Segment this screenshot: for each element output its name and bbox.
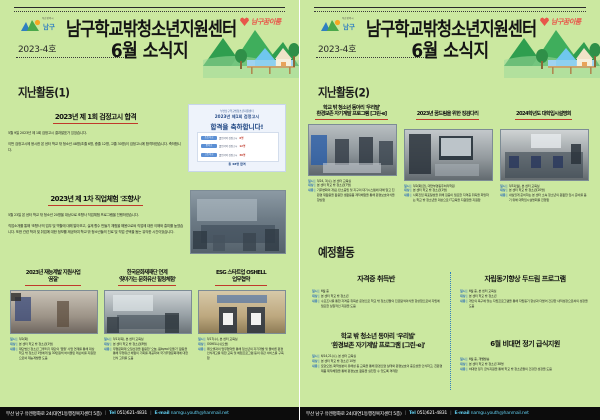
card-stepping-stone: 2023년 꿈드림을 위한 징검다리 일시 |5/2(화)금), 대연부경동주처… [404,100,491,203]
meta-key: 내용 | [500,193,507,202]
photo-right-card-1 [308,124,397,176]
card-title-wrap: 2023년 재능계발 지원사업 '꿈잘' [10,266,96,286]
poster-row-label: 졸업학력 검정고시 [219,153,237,157]
poster-row-count: 12명 [239,144,245,148]
card-title-line-2: '꿈잘' [48,277,59,283]
plan-meta-3: 일시 |6/14,21(수), 본 센터 교육실 대상 |본 센터 학교 밖 청… [312,354,444,373]
page-right: 부산광역시 남구 남구학교밖청소년지원센터 남구꿈이룸 6월 소식지 2023-… [300,0,600,420]
footer-sep: | [105,411,106,416]
meta-key: 내용 | [198,347,205,361]
photo-right-card-2 [404,129,493,181]
card-title-wrap: 학교 밖 청소년 동아리 '우리발' 환경보존 자기계발 프로그램 [그린-e] [308,100,395,120]
photo-job-experience [190,190,286,254]
namgu-logo: 부산광역시 남구 [320,16,366,34]
meta-value: 토양오염, 화학성분의 유해성 등 교육을 통해 환경오염 실태와 환경보호의 … [321,364,444,373]
meta-key: 대상 | [460,294,467,299]
block-title-wrap: 2023년 제 1차 직업체험 '조향사' [8,186,183,206]
meta-key: 일시 | [104,337,111,342]
poster-row-grade: 초등학교 [201,136,217,140]
card-meta-3: 일시 |5/17(수), 본 센터 교육실 대상 |OSHELL(쉬오블) 내용… [198,337,284,361]
meta-key: 내용 | [460,299,467,308]
card-meta-1: 일시 |5/2(화) 대상 |본 센터 학교 밖 청소년(1명) 내용 |재단법… [10,337,96,361]
poster-row-label: 졸업학력 검정고시 [219,136,237,140]
landscape-illustration [203,16,299,78]
card-title-line-2: 환경보존 자기계발 프로그램 [그린-e] [316,111,386,117]
meta-key: 일시 | [460,289,467,294]
poster-line-2: 합격을 축하합니다! [189,121,285,131]
meta-key: 내용 | [312,364,319,373]
meta-value: 사회진입 목표달성을 위해 집중이 필요한 자격증 취득을 희망하는 학교 밖 … [413,193,491,202]
card-title-wrap: ESG 스타트업 OSHELL 업무협약 [198,266,284,286]
plan-title-line-1: 학교 밖 청소년 동아리 '우리발' [341,332,415,340]
meta-key: 대상 | [198,342,205,347]
meta-row: 내용 |내실있게 준비하는 본 센터 소속 청소년의 원활한 입시 준비를 돕기… [500,193,587,202]
meta-value: 본 센터 학교 밖 청소년(1명) [19,342,53,347]
block-exam-pass: 2023년 제 1회 검정고시 합격 5월 9일 2023년 제 1회 검정고시… [8,104,183,153]
card-meta-right-1: 일시 |5/24, 3(수), 본 센터 교육실 대상 |본 센터 학교 밖 청… [308,179,395,203]
poster-row-grade: 고등학교 [201,153,217,157]
block-paragraph-1: 5월 23일 본 센터 학교 밖 청소년 20명을 대상으로 조향사 직업체험 … [8,213,183,218]
meta-row: 일시 |6월 중, 본 센터 교육실 [460,289,590,294]
meta-key: 내용 | [308,188,315,202]
meta-value: 무형문화재 오칠선장을 활용한 '오늘, 봄byeol 민들기' 활동을 통해 … [113,347,190,361]
footer-tel-label: Tel [409,411,416,416]
meta-key: 일시 | [10,337,17,342]
poster-footer: 총 48명 합격 [189,162,285,166]
meta-value: 내실있게 준비하는 본 센터 소속 청소년의 원활한 입시 준비를 돕기 위해 … [509,193,587,202]
card-title-line-1: 학교 밖 청소년 동아리 '우리발' [323,105,380,111]
poster-row: 중학교 졸업학력 검정고시 12명 [201,144,245,148]
landscape-illustration [504,16,600,78]
meta-value: 본 센터 학교 밖 청소년 38명 [469,362,504,367]
card-title: 2024학년도 대학입시설명회 [515,111,572,120]
page-left: 부산광역시 남구 남구학교밖청소년지원센터 남구꿈이룸 6월 소식지 2023-… [0,0,300,420]
card-title-line-1: ESG 스타트업 OSHELL [216,270,266,276]
logo-namgu-text: 남구 [343,21,355,31]
mountain-logo-icon [320,19,342,32]
plan-certificate-class: 자격증 취득반 일시 |6월 중 대상 |본 센터 학교 밖 청소년 내용 |수… [312,274,440,308]
footer-email[interactable]: namgu.youth@hanmail.net [471,411,529,416]
card-green-e: 학교 밖 청소년 동아리 '우리발' 환경보존 자기계발 프로그램 [그린-e]… [308,100,395,203]
section-heading-past-2: 지난활동(2) [318,84,369,101]
plan-title-wrap: 자격증 취득반 [312,274,440,284]
meta-row: 대상 |본 센터 학교 밖 청소년 38명 [460,362,590,367]
meta-key: 내용 | [404,193,411,202]
card-title: 학교 밖 청소년 동아리 '우리발' 환경보존 자기계발 프로그램 [그린-e] [315,105,387,120]
meta-row: 일시 |5/2(화) [10,337,96,342]
card-esg-mou: ESG 스타트업 OSHELL 업무협약 일시 |5/17(수), 본 센터 교… [198,266,284,361]
block-job-experience: 2023년 제 1차 직업체험 '조향사' 5월 23일 본 센터 학교 밖 청… [8,186,183,235]
meta-value: 6월 중 [321,289,329,294]
card-meta-2: 일시 |5/11(목), 본 센터 교육실 대상 |본 센터 학교 밖 청소년(… [104,337,190,361]
card-title: 2023년 재능계발 지원사업 '꿈잘' [25,270,81,286]
meta-key: 일시 | [198,337,205,342]
block-paragraph-2: 직업소개를 통해 '조향사'의 업무 및 역할에 대해 알아보고, 실제 향수 … [8,224,183,235]
meta-value: 5/11(목), 본 센터 교육실 [113,337,144,342]
plan-title-wrap: 자립동기향상 두드림 프로그램 [460,274,590,284]
card-title-line-1: 한국문화재재단 연계 [127,270,168,276]
card-title-line-2: 업무협약 [232,277,249,283]
card-title: ESG 스타트업 OSHELL 업무협약 [215,270,267,286]
meta-row: 대상 |본 센터 학교 밖 청소년 [312,294,440,299]
card-talent-support: 2023년 재능계발 지원사업 '꿈잘' 일시 |5/2(화) 대상 |본 센터… [10,266,96,361]
meta-key: 대상 | [460,362,467,367]
meta-value: 개인의 욕구에 맞는 자립프로그램을 통해 자립동기 향상과 더불어 건강한 내… [469,299,590,308]
photo-card-2 [104,290,192,334]
plan-dodream: 자립동기향상 두드림 프로그램 일시 |6월 중, 본 센터 교육실 대상 |본… [460,274,590,308]
footer-sep: | [405,411,406,416]
footer-tel-label: Tel [109,411,116,416]
footer-email-label: E-mail [455,411,470,416]
exam-result-poster: 부산남구학교밖청소년지원센터 2023년 제1회 검정고시 합격을 축하합니다!… [188,104,286,172]
poster-table: 초등학교 졸업학력 검정고시 6명 중학교 졸업학력 검정고시 12명 고등학교… [197,132,279,162]
plan-meta-1: 일시 |6월 중 대상 |본 센터 학교 밖 청소년 내용 |수요조사를 통한 … [312,289,440,308]
logo-mini-text: 부산광역시 [42,16,54,20]
meta-key: 일시 | [312,289,319,294]
meta-value: 수요조사를 통한 자격증 취득반 운영으로 학교 밖 청소년들의 진로탐색의식을… [321,299,440,308]
namgu-logo: 부산광역시 남구 [20,16,66,34]
vertical-dotted-divider [450,272,451,390]
block-paragraph-1: 5월 9일 2023년 제 1회 검정고시 결과발표가 있었습니다. [8,131,183,136]
poster-line-1: 2023년 제1회 검정고시 [189,114,285,120]
meta-value: 본 센터 학교 밖 청소년 [321,294,349,299]
plan-green-e: 학교 밖 청소년 동아리 '우리발' '환경보존 자기계발 프로그램 [그린-e… [312,332,444,374]
logo-mini-text: 부산광역시 [342,16,354,20]
card-meta-right-2: 일시 |5/2(화)금), 대연부경동주처리학원 대상 |본 센터 학교 밖 청… [404,184,491,203]
meta-value: ㈜오쉘과의 업무협약을 통해 청소년의 자기개발 및 올바른 환경 인식제고를 … [207,347,284,361]
block-paragraph-2: 이번 검정고시에 응시한 본 센터 학교 밖 청소년 48명(초졸 6명, 중졸… [8,142,183,153]
meta-value: 6월 중, 본 센터 교육실 [469,289,497,294]
meta-key: 내용 | [104,347,111,361]
meta-row: 일시 |5/17(수), 본 센터 교육실 [198,337,284,342]
meta-row: 내용 |㈜오쉘과의 업무협약을 통해 청소년의 자기개발 및 올바른 환경 인식… [198,347,284,361]
photo-right-card-3 [500,129,589,181]
poster-row: 고등학교 졸업학력 검정고시 30명 [201,153,245,157]
meta-row: 대상 |본 센터 학교 밖 청소년(1명) [10,342,96,347]
section-heading-past-1: 지난활동(1) [18,84,69,101]
photo-card-1 [10,290,98,334]
meta-key: 일시 | [460,357,467,362]
block-title-wrap: 2023년 제 1회 검정고시 합격 [8,104,183,124]
meta-row: 내용 |수요조사를 통한 자격증 취득반 운영으로 학교 밖 청소년들의 진로탐… [312,299,440,308]
footer-email[interactable]: namgu.youth@hanmail.net [171,411,229,416]
plan-title: 자립동기향상 두드림 프로그램 [460,274,590,284]
card-title-wrap: 2024학년도 대학입시설명회 [500,100,587,120]
footer-sep: | [150,411,151,416]
plan-title: 학교 밖 청소년 동아리 '우리발' '환경보존 자기계발 프로그램 [그린-e… [312,332,444,349]
meta-row: 내용 |개인의 욕구에 맞는 자립프로그램을 통해 자립동기 향상과 더불어 건… [460,299,590,308]
meta-value: 5/17(수), 본 센터 교육실 [207,337,238,342]
card-title-wrap: 한국문화재재단 연계 '찾아가는 문화유산 힐링체험' [104,266,190,286]
meta-key: 대상 | [104,342,111,347]
header-rule [314,7,586,8]
meta-value: 본 센터 학교 밖 청소년(8명) [113,342,147,347]
meta-value: OSHELL(쉬오블) [207,342,228,347]
meta-row: 내용 |재단법인 청소년 그루터기 재단의 '꿈잘' 사업 연계를 통해 대상 … [10,347,96,361]
plan-title-wrap: 6월 비대면 정기 급식지원 [460,339,590,349]
card-title: 한국문화재재단 연계 '찾아가는 문화유산 힐링체험' [118,270,177,286]
photo-card-3 [198,290,286,334]
logo-namgu-text: 남구 [43,21,55,31]
meta-row: 내용 |사회진입 목표달성을 위해 집중이 필요한 자격증 취득을 희망하는 학… [404,193,491,202]
footer-tel: 051)621-4831 [417,411,447,416]
footer-tel: 051)621-4831 [117,411,147,416]
mountain-logo-icon [20,19,42,32]
footer-email-label: E-mail [155,411,170,416]
plan-title-wrap: 학교 밖 청소년 동아리 '우리발' '환경보존 자기계발 프로그램 [그린-e… [312,332,444,349]
poster-org: 부산남구학교밖청소년지원센터 [189,109,285,113]
meta-row: 대상 |OSHELL(쉬오블) [198,342,284,347]
footer-bar-left: 부산 남구 유엔평화로 24(대연1동행정복지센터 5층) | Tel 051)… [0,407,300,420]
plan-meta-4: 일시 |6월 중, 개별발송 대상 |본 센터 학교 밖 청소년 38명 내용 … [460,357,590,372]
meta-value: 비대면 정기 급식지원을 통해 학교 밖 청소년들의 건강한 성장을 도움 [469,367,552,372]
issue-number: 2023-4호 [318,42,356,55]
card-title-wrap: 2023년 꿈드림을 위한 징검다리 [404,100,491,120]
section-heading-upcoming: 예정활동 [318,244,354,261]
meta-row: 일시 |6월 중, 개별발송 [460,357,590,362]
card-title-line-2: '찾아가는 문화유산 힐링체험' [119,277,176,283]
header-dotted-rule [14,11,285,12]
plan-meta-2: 일시 |6월 중, 본 센터 교육실 대상 |본 센터 학교 밖 청소년 내용 … [460,289,590,308]
plan-title-line-2: '환경보존 자기계발 프로그램 [그린-e]' [331,341,425,349]
meta-key: 내용 | [312,299,319,308]
meta-key: 내용 | [10,347,17,361]
header-rule [14,7,285,8]
footer-bar-right: 부산 남구 유엔평화로 24(대연1동행정복지센터 5층) | Tel 051)… [300,407,600,420]
header-dotted-rule [314,11,586,12]
poster-row: 초등학교 졸업학력 검정고시 6명 [201,136,244,140]
meta-row: 대상 |본 센터 학교 밖 청소년(8명) [104,342,190,347]
newsletter-spread: 부산광역시 남구 남구학교밖청소년지원센터 남구꿈이룸 6월 소식지 2023-… [0,0,600,420]
meta-key: 대상 | [312,294,319,299]
footer-address: 부산 남구 유엔평화로 24(대연1동행정복지센터 5층) [306,411,402,417]
meta-key: 내용 | [460,367,467,372]
card-univ-admission: 2024학년도 대학입시설명회 일시 |5/31(월), 본 센터 교육실 대상… [500,100,587,203]
block-title: 2023년 제 1회 검정고시 합격 [53,113,138,124]
footer-sep: | [450,411,451,416]
meta-row: 일시 |6월 중 [312,289,440,294]
meta-value: 기후변화의 개념, 탄소중립 및 지구의 대기시스템에 대해 알고 친환경 재활… [317,188,395,202]
poster-row-count: 30명 [239,153,245,157]
meta-row: 내용 |토양오염, 화학성분의 유해성 등 교육을 통해 환경오염 실태와 환경… [312,364,444,373]
card-meta-right-3: 일시 |5/31(월), 본 센터 교육실 대상 |본 센터 학교 밖 청소년(… [500,184,587,203]
meta-value: 본 센터 학교 밖 청소년 [469,294,497,299]
meta-value: 5/2(화) [19,337,28,342]
plan-title: 6월 비대면 정기 급식지원 [460,339,590,349]
block-title: 2023년 제 1차 직업체험 '조향사' [48,195,142,206]
meta-row: 내용 |비대면 정기 급식지원을 통해 학교 밖 청소년들의 건강한 성장을 도… [460,367,590,372]
card-title-line-1: 2023년 재능계발 지원사업 [26,270,80,276]
card-heritage-healing: 한국문화재재단 연계 '찾아가는 문화유산 힐링체험' 일시 |5/11(목),… [104,266,190,361]
poster-row-label: 졸업학력 검정고시 [219,144,237,148]
poster-row-grade: 중학교 [201,144,217,148]
card-title: 2023년 꿈드림을 위한 징검다리 [416,111,480,120]
meta-row: 대상 |본 센터 학교 밖 청소년 [460,294,590,299]
meta-row: 일시 |5/11(목), 본 센터 교육실 [104,337,190,342]
poster-row-count: 6명 [239,136,243,140]
plan-title: 자격증 취득반 [312,274,440,284]
meta-row: 내용 |무형문화재 오칠선장을 활용한 '오늘, 봄byeol 민들기' 활동을… [104,347,190,361]
meta-value: 6월 중, 개별발송 [469,357,490,362]
meta-row: 내용 |기후변화의 개념, 탄소중립 및 지구의 대기시스템에 대해 알고 친환… [308,188,395,202]
meta-key: 대상 | [10,342,17,347]
issue-number: 2023-4호 [18,42,56,55]
footer-address: 부산 남구 유엔평화로 24(대연1동행정복지센터 5층) [6,411,102,417]
plan-meal-support: 6월 비대면 정기 급식지원 일시 |6월 중, 개별발송 대상 |본 센터 학… [460,332,590,372]
meta-value: 재단법인 청소년 그루터기 재단의 '꿈잘' 사업 연계를 통해 대상 학교 밖… [19,347,96,361]
